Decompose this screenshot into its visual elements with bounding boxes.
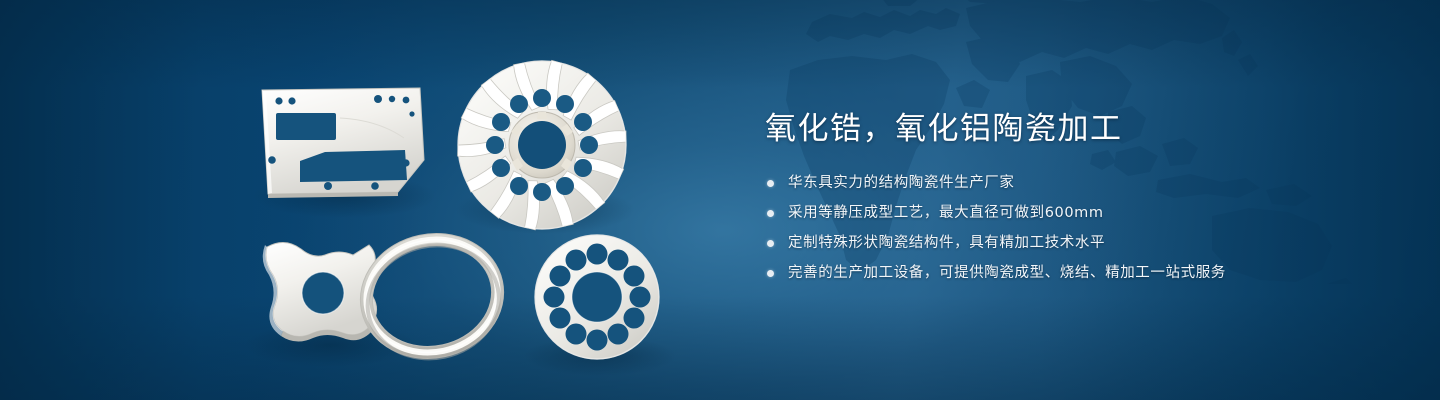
bullet-dot-icon: [767, 210, 774, 217]
bullet-dot-icon: [767, 240, 774, 247]
list-item: 定制特殊形状陶瓷结构件，具有精加工技术水平: [767, 232, 1385, 254]
feature-list: 华东具实力的结构陶瓷件生产厂家 采用等静压成型工艺，最大直径可做到600mm 定…: [767, 172, 1385, 284]
bullet-dot-icon: [767, 270, 774, 277]
list-item-label: 采用等静压成型工艺，最大直径可做到600mm: [788, 202, 1104, 224]
bullet-dot-icon: [767, 180, 774, 187]
list-item-label: 华东具实力的结构陶瓷件生产厂家: [788, 172, 1015, 194]
banner-copy: 氧化锆，氧化铝陶瓷加工 华东具实力的结构陶瓷件生产厂家 采用等静压成型工艺，最大…: [765, 108, 1385, 292]
page-title: 氧化锆，氧化铝陶瓷加工: [765, 108, 1385, 150]
list-item: 华东具实力的结构陶瓷件生产厂家: [767, 172, 1385, 194]
list-item-label: 完善的生产加工设备，可提供陶瓷成型、烧结、精加工一站式服务: [788, 262, 1226, 284]
list-item: 采用等静压成型工艺，最大直径可做到600mm: [767, 202, 1385, 224]
list-item-label: 定制特殊形状陶瓷结构件，具有精加工技术水平: [788, 232, 1105, 254]
list-item: 完善的生产加工设备，可提供陶瓷成型、烧结、精加工一站式服务: [767, 262, 1385, 284]
product-banner: 氧化锆，氧化铝陶瓷加工 华东具实力的结构陶瓷件生产厂家 采用等静压成型工艺，最大…: [0, 0, 1440, 400]
